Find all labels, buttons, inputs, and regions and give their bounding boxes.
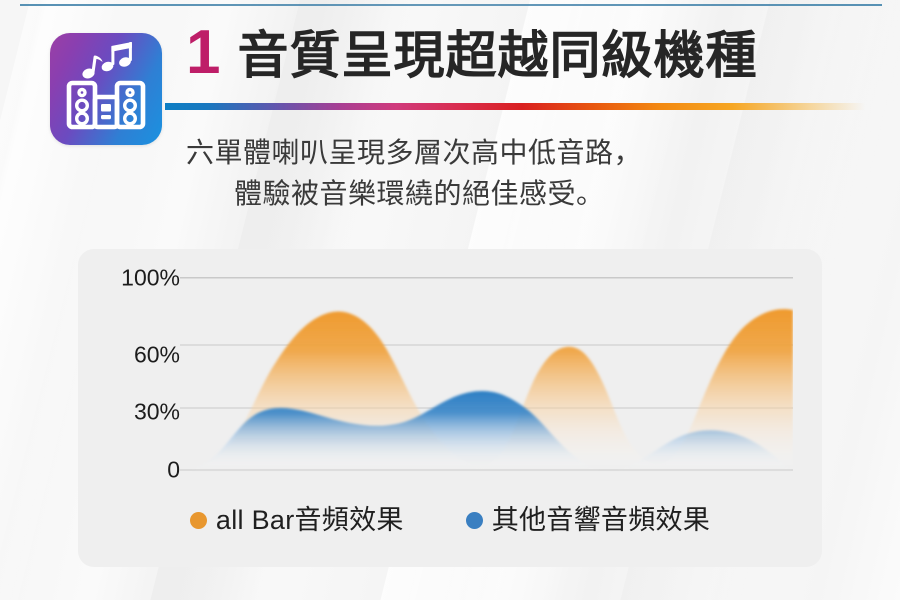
y-axis-tick-label: 100% [121, 264, 180, 291]
feature-number: 1 [186, 22, 219, 84]
y-axis-tick-label: 30% [134, 399, 180, 426]
y-axis-tick-label: 60% [134, 341, 180, 368]
chart-inner: 100% 60% 30% 0 [78, 249, 822, 567]
infographic-page: 1 音質呈現超越同級機種 六單體喇叭呈現多層次高中低音路， 體驗被音樂環繞的絕佳… [0, 0, 900, 600]
audio-frequency-chart-card: 100% 60% 30% 0 [78, 249, 822, 567]
y-axis-tick-label: 0 [167, 457, 180, 484]
legend-dot-orange-icon [190, 512, 207, 529]
page-title-row: 1 音質呈現超越同級機種 [186, 22, 758, 84]
legend-item-other-speaker[interactable]: 其他音響音頻效果 [466, 507, 710, 534]
subtitle-line-2: 體驗被音樂環繞的絕佳感受。 [186, 173, 826, 214]
area-chart-plot [180, 277, 793, 490]
legend-label: all Bar音頻效果 [216, 507, 404, 534]
top-divider-rule [20, 4, 882, 6]
subtitle-line-1: 六單體喇叭呈現多層次高中低音路， [186, 132, 826, 173]
chart-legend: all Bar音頻效果 其他音響音頻效果 [78, 507, 822, 534]
rainbow-divider [165, 103, 865, 110]
feature-subtitle: 六單體喇叭呈現多層次高中低音路， 體驗被音樂環繞的絕佳感受。 [186, 132, 826, 215]
legend-label: 其他音響音頻效果 [492, 507, 710, 534]
stereo-speakers-music-note-icon [50, 33, 162, 145]
legend-dot-blue-icon [466, 512, 483, 529]
page-title: 音質呈現超越同級機種 [237, 30, 757, 81]
legend-item-all-bar[interactable]: all Bar音頻效果 [190, 507, 404, 534]
